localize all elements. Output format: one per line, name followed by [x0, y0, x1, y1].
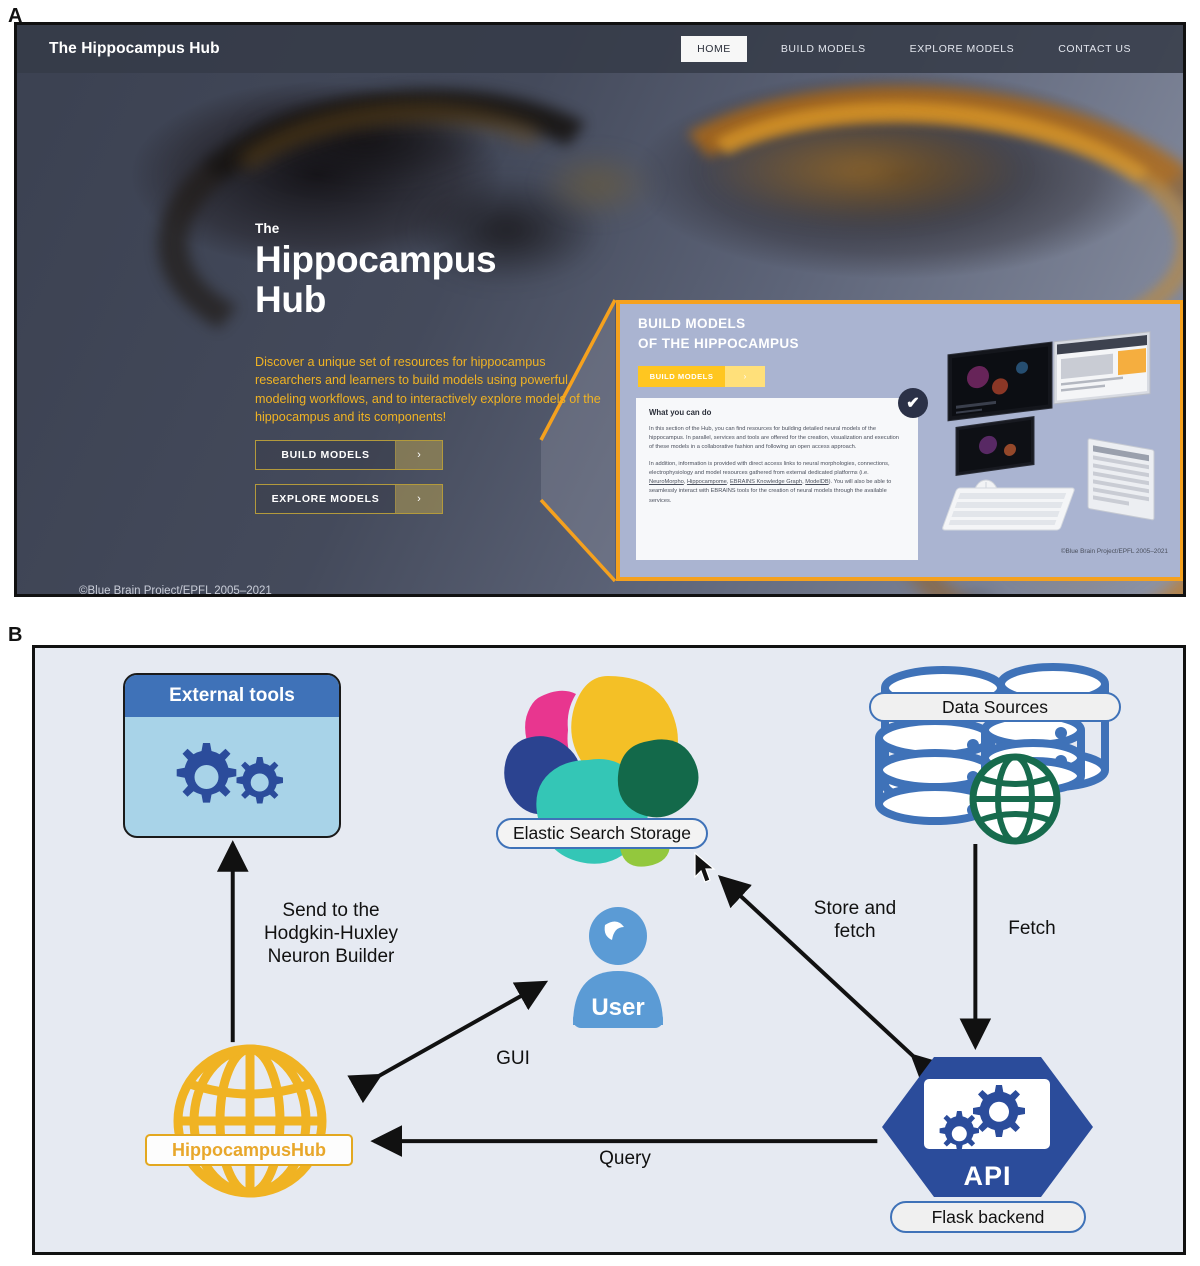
hero-copyright: ©Blue Brain Project/EPFL 2005–2021: [79, 585, 272, 597]
hero-paragraph: Discover a unique set of resources for h…: [255, 353, 607, 426]
link-modeldb[interactable]: ModelDB: [805, 479, 828, 485]
nav-item-home[interactable]: HOME: [681, 36, 747, 62]
edge-label-fetch: Fetch: [987, 918, 1077, 941]
link-neuromorpho[interactable]: NeuroMorpho: [649, 479, 684, 485]
user-label: User: [553, 994, 683, 1022]
inset-heading-line-2: OF THE HIPPOCAMPUS: [638, 334, 799, 354]
node-user[interactable]: User: [553, 903, 683, 1028]
hero-build-models-label: BUILD MODELS: [256, 441, 395, 469]
node-hippocampus-hub[interactable]: HippocampusHub: [135, 1043, 365, 1203]
inset-copyright: ©Blue Brain Project/EPFL 2005–2021: [1061, 548, 1168, 555]
edge-label-store-and-fetch: Store and fetch: [790, 898, 920, 944]
elastic-search-storage-label: Elastic Search Storage: [513, 823, 691, 844]
navbar-items: HOME BUILD MODELS EXPLORE MODELS CONTACT…: [681, 36, 1153, 62]
inset-card-title: What you can do: [649, 408, 905, 417]
api-title: API: [880, 1161, 1095, 1192]
chevron-right-icon: ›: [395, 441, 442, 469]
node-external-tools[interactable]: External tools: [123, 673, 341, 838]
hippocampus-hub-label-pill: HippocampusHub: [145, 1134, 353, 1166]
device-mockup-illustration: [938, 326, 1178, 556]
api-sublabel-pill: Flask backend: [890, 1201, 1086, 1233]
database-stack-icon: [865, 662, 1135, 852]
mouse-cursor-icon: [693, 852, 719, 886]
inset-build-models-button[interactable]: BUILD MODELS ›: [638, 366, 765, 387]
hero-build-models-button[interactable]: BUILD MODELS ›: [255, 440, 443, 470]
inset-card-paragraph-1: In this section of the Hub, you can find…: [649, 425, 905, 453]
elastic-search-storage-label-pill: Elastic Search Storage: [496, 818, 708, 849]
link-ebrains-knowledge-graph[interactable]: EBRAINS Knowledge Graph: [730, 479, 802, 485]
gears-icon: [157, 729, 307, 825]
inset-what-you-can-do-card: What you can do In this section of the H…: [636, 398, 918, 560]
hero-title-line-1: Hippocampus: [255, 240, 625, 280]
nav-item-contact-us[interactable]: CONTACT US: [1036, 37, 1153, 61]
inset-build-models-label: BUILD MODELS: [638, 366, 725, 387]
data-sources-label: Data Sources: [942, 697, 1048, 718]
inset-card-paragraph-2-pre: In addition, information is provided wit…: [649, 461, 890, 476]
link-hippocampome[interactable]: Hippocampome: [687, 479, 727, 485]
nav-item-explore-models[interactable]: EXPLORE MODELS: [888, 37, 1037, 61]
inset-heading: BUILD MODELS OF THE HIPPOCAMPUS: [638, 314, 799, 353]
hippocampus-render-right-mass: [697, 115, 1027, 225]
check-icon: ✔: [898, 388, 928, 418]
hero-text-block: The Hippocampus Hub Discover a unique se…: [255, 221, 625, 514]
external-tools-title: External tools: [169, 685, 295, 707]
chevron-right-icon: ›: [725, 366, 765, 387]
hero-explore-models-label: EXPLORE MODELS: [256, 485, 395, 513]
nav-item-build-models[interactable]: BUILD MODELS: [759, 37, 888, 61]
figure-root: A B The Hippocampus Hub HOME BUILD MODEL…: [0, 0, 1200, 1266]
external-tools-body: [125, 717, 339, 836]
node-data-sources[interactable]: Data Sources: [865, 662, 1135, 852]
inset-heading-line-1: BUILD MODELS: [638, 314, 799, 334]
hero-kicker: The: [255, 221, 625, 236]
site-navbar: The Hippocampus Hub HOME BUILD MODELS EX…: [17, 25, 1183, 73]
inset-build-models-page: BUILD MODELS OF THE HIPPOCAMPUS BUILD MO…: [616, 300, 1184, 581]
edge-label-gui: GUI: [473, 1048, 553, 1071]
data-sources-label-pill: Data Sources: [869, 692, 1121, 722]
chevron-right-icon: ›: [395, 485, 442, 513]
panel-a-website-screenshot: The Hippocampus Hub HOME BUILD MODELS EX…: [14, 22, 1186, 597]
panel-b-architecture-diagram: External tools: [32, 645, 1186, 1255]
api-sublabel: Flask backend: [932, 1207, 1045, 1228]
inset-card-paragraph-2: In addition, information is provided wit…: [649, 460, 905, 506]
external-tools-header: External tools: [125, 675, 339, 717]
edge-label-query: Query: [555, 1148, 695, 1171]
panel-b-label: B: [8, 625, 22, 645]
hero-explore-models-button[interactable]: EXPLORE MODELS ›: [255, 484, 443, 514]
node-api[interactable]: API Flask backend: [880, 1053, 1095, 1238]
site-title: The Hippocampus Hub: [49, 40, 220, 58]
hero-title-line-2: Hub: [255, 280, 625, 320]
node-elastic-search-storage[interactable]: Elastic Search Storage: [470, 668, 730, 878]
hippocampus-hub-label: HippocampusHub: [172, 1140, 326, 1161]
edge-label-send-to-hodgkin-huxley: Send to the Hodgkin-Huxley Neuron Builde…: [231, 900, 431, 968]
globe-icon: [135, 1043, 365, 1203]
